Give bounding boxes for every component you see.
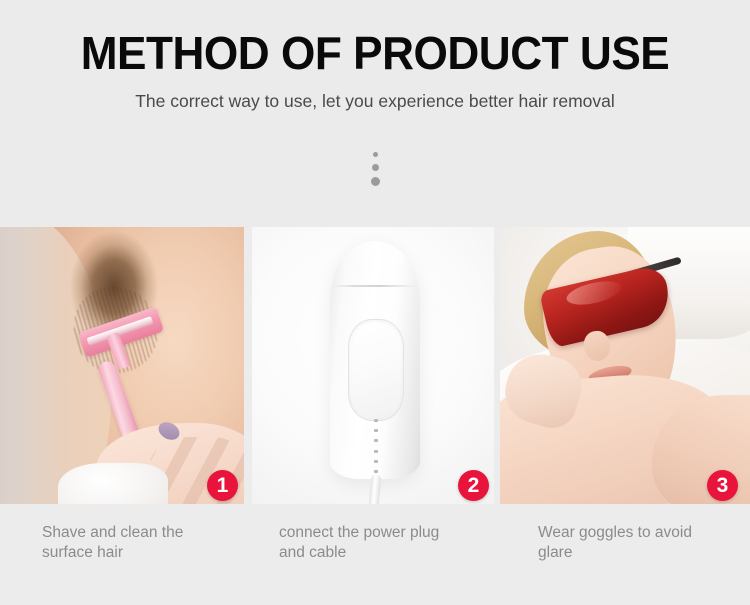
step-images-row: 1 2 <box>0 227 750 504</box>
header-section: METHOD OF PRODUCT USE The correct way to… <box>0 0 750 227</box>
dot-large-icon <box>371 177 380 186</box>
goggles-illustration <box>500 227 750 504</box>
step-3-caption: Wear goggles to avoid glare <box>538 523 750 563</box>
led-indicator <box>374 470 378 473</box>
step-1-caption: Shave and clean the surface hair <box>42 523 252 563</box>
device-seam <box>332 285 418 287</box>
led-indicator <box>374 450 378 453</box>
dot-medium-icon <box>372 164 379 171</box>
led-indicator <box>374 460 378 463</box>
led-indicator <box>374 429 378 432</box>
product-usage-infographic: METHOD OF PRODUCT USE The correct way to… <box>0 0 750 605</box>
dot-small-icon <box>373 152 378 157</box>
device-led-indicators <box>374 419 378 473</box>
step-3-image: 3 <box>500 227 750 504</box>
step-2-caption: connect the power plug and cable <box>279 523 494 563</box>
step-1-image: 1 <box>0 227 244 504</box>
white-towel <box>58 463 168 504</box>
razor-shaving-illustration <box>0 227 244 504</box>
led-indicator <box>374 419 378 422</box>
step-number-badge-1: 1 <box>207 470 238 501</box>
device-flash-window <box>348 319 404 421</box>
page-subtitle: The correct way to use, let you experien… <box>0 91 750 112</box>
led-indicator <box>374 439 378 442</box>
step-2-image: 2 <box>252 227 494 504</box>
step-number-badge-2: 2 <box>458 470 489 501</box>
page-title: METHOD OF PRODUCT USE <box>15 26 735 80</box>
step-number-badge-3: 3 <box>707 470 738 501</box>
decorative-dots <box>0 152 750 186</box>
captions-row: Shave and clean the surface hair connect… <box>0 504 750 605</box>
ipl-device-illustration <box>252 227 494 504</box>
